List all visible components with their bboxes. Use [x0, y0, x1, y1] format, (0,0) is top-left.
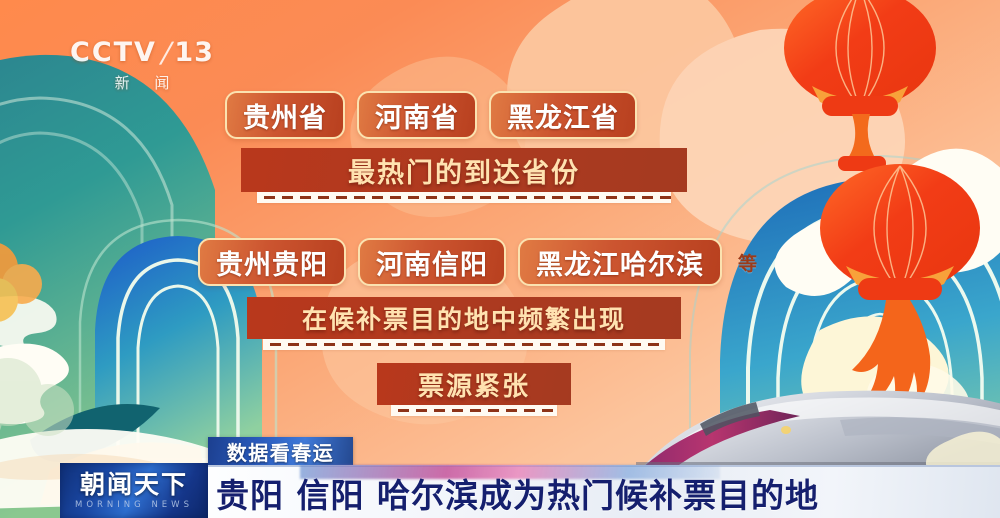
infographic-content: 贵州省 河南省 黑龙江省 最热门的到达省份 贵州贵阳 河南信阳 黑龙江哈尔滨 等…: [0, 0, 1000, 518]
dashed-divider: [263, 339, 665, 350]
province-pill: 贵州省: [225, 91, 345, 139]
province-pill: 河南省: [357, 91, 477, 139]
dashed-divider: [257, 192, 671, 203]
program-name-en: MORNING NEWS: [75, 500, 193, 510]
province-pill-row: 贵州省 河南省 黑龙江省: [225, 91, 637, 139]
province-pill: 黑龙江省: [489, 91, 637, 139]
lower-third-bar: 朝闻天下 MORNING NEWS 贵阳 信阳 哈尔滨成为热门候补票目的地: [0, 465, 1000, 518]
conclusion-block: 票源紧张: [377, 363, 571, 416]
topic-tag-label: 数据看春运: [227, 437, 335, 466]
city-pill: 黑龙江哈尔滨: [518, 238, 722, 286]
program-logo: 朝闻天下 MORNING NEWS: [60, 463, 208, 518]
city-caption-block: 在候补票目的地中频繁出现: [247, 297, 681, 350]
news-headline: 贵阳 信阳 哈尔滨成为热门候补票目的地: [216, 469, 819, 517]
broadcast-frame: CCTV / 13 新 闻 贵州省 河南省 黑龙江省 最热门的到达省份 贵州贵阳…: [0, 0, 1000, 518]
conclusion-text: 票源紧张: [377, 363, 571, 405]
topic-tag: 数据看春运: [208, 437, 353, 466]
province-caption: 最热门的到达省份: [241, 148, 687, 192]
city-pill-row: 贵州贵阳 河南信阳 黑龙江哈尔滨 等: [198, 238, 757, 286]
program-name-cn: 朝闻天下: [80, 472, 188, 497]
city-caption: 在候补票目的地中频繁出现: [247, 297, 681, 339]
province-caption-block: 最热门的到达省份: [241, 148, 687, 203]
city-pill: 河南信阳: [358, 238, 506, 286]
city-list-suffix: 等: [738, 249, 757, 276]
city-pill: 贵州贵阳: [198, 238, 346, 286]
dashed-divider: [391, 405, 557, 416]
